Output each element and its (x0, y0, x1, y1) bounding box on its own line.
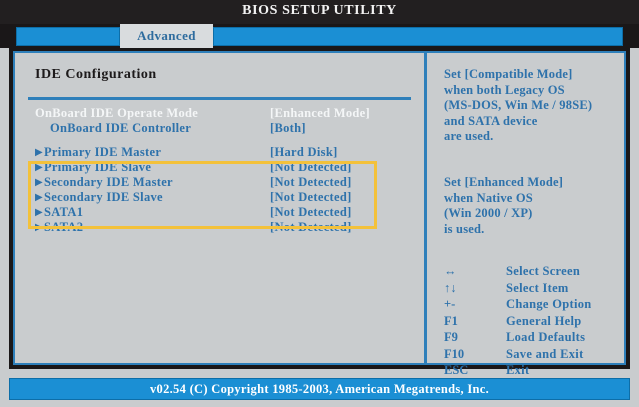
device-value: [Not Detected] (270, 160, 352, 175)
settings-panel: IDE Configuration OnBoard IDE Operate Mo… (15, 53, 424, 363)
legend-desc: Change Option (506, 296, 592, 313)
arrows-up-down-icon: ↑↓ (444, 280, 488, 297)
footer-bar: v02.54 (C) Copyright 1985-2003, American… (9, 378, 630, 400)
device-label: SATA1 (44, 205, 83, 220)
f9-key-icon: F9 (444, 329, 488, 346)
device-row-primary-ide-slave[interactable]: ▶ Primary IDE Slave [Not Detected] (15, 160, 424, 175)
plus-minus-key-icon: +- (444, 296, 488, 313)
bios-setup-screen: BIOS SETUP UTILITY Advanced IDE Configur… (0, 0, 639, 407)
device-row-sata1[interactable]: ▶ SATA1 [Not Detected] (15, 205, 424, 220)
device-row-secondary-ide-master[interactable]: ▶ Secondary IDE Master [Not Detected] (15, 175, 424, 190)
section-title: IDE Configuration (35, 67, 157, 83)
submenu-arrow-icon: ▶ (35, 145, 43, 160)
tab-advanced-label: Advanced (137, 28, 196, 44)
device-label: Primary IDE Master (44, 145, 161, 160)
device-row-sata2[interactable]: ▶ SATA2 [Not Detected] (15, 220, 424, 235)
f10-key-icon: F10 (444, 346, 488, 363)
setting-label: OnBoard IDE Operate Mode (35, 106, 198, 121)
submenu-arrow-icon: ▶ (35, 190, 43, 205)
device-label: SATA2 (44, 220, 83, 235)
section-divider (28, 97, 411, 100)
help-panel: Set [Compatible Mode] when both Legacy O… (427, 53, 624, 363)
tab-bar: Advanced (0, 24, 639, 48)
submenu-arrow-icon: ▶ (35, 205, 43, 220)
device-value: [Not Detected] (270, 205, 352, 220)
title-bar: BIOS SETUP UTILITY (0, 0, 639, 24)
legend-row-select-screen: ↔ Select Screen (444, 263, 639, 280)
setting-value: [Both] (270, 121, 306, 136)
setting-row-onboard-ide-controller[interactable]: OnBoard IDE Controller [Both] (15, 121, 424, 136)
device-value: [Hard Disk] (270, 145, 338, 160)
submenu-arrow-icon: ▶ (35, 160, 43, 175)
device-value: [Not Detected] (270, 190, 352, 205)
legend-row-change-option: +- Change Option (444, 296, 639, 313)
legend-desc: General Help (506, 313, 581, 330)
legend-row-general-help: F1 General Help (444, 313, 639, 330)
footer-copyright: v02.54 (C) Copyright 1985-2003, American… (150, 382, 489, 397)
submenu-arrow-icon: ▶ (35, 220, 43, 235)
row-spacer (15, 136, 424, 145)
legend-row-exit: ESC Exit (444, 362, 639, 379)
device-row-secondary-ide-slave[interactable]: ▶ Secondary IDE Slave [Not Detected] (15, 190, 424, 205)
settings-list: OnBoard IDE Operate Mode [Enhanced Mode]… (15, 106, 424, 235)
f1-key-icon: F1 (444, 313, 488, 330)
legend-desc: Select Item (506, 280, 569, 297)
setting-label: OnBoard IDE Controller (50, 121, 191, 136)
legend-row-save-and-exit: F10 Save and Exit (444, 346, 639, 363)
page-title: BIOS SETUP UTILITY (0, 3, 639, 19)
device-label: Secondary IDE Slave (44, 190, 163, 205)
legend-desc: Exit (506, 362, 529, 379)
device-label: Secondary IDE Master (44, 175, 173, 190)
legend-desc: Select Screen (506, 263, 580, 280)
device-row-primary-ide-master[interactable]: ▶ Primary IDE Master [Hard Disk] (15, 145, 424, 160)
setting-row-onboard-ide-operate-mode[interactable]: OnBoard IDE Operate Mode [Enhanced Mode] (15, 106, 424, 121)
legend-row-select-item: ↑↓ Select Item (444, 280, 639, 297)
content-frame: IDE Configuration OnBoard IDE Operate Mo… (13, 51, 626, 365)
help-text-enhanced-mode: Set [Enhanced Mode] when Native OS (Win … (444, 175, 634, 237)
legend-row-load-defaults: F9 Load Defaults (444, 329, 639, 346)
esc-key-icon: ESC (444, 362, 488, 379)
legend-desc: Load Defaults (506, 329, 585, 346)
arrows-left-right-icon: ↔ (444, 263, 488, 280)
submenu-arrow-icon: ▶ (35, 175, 43, 190)
device-value: [Not Detected] (270, 175, 352, 190)
tab-strip-right (213, 27, 623, 46)
tab-strip-left (16, 27, 120, 46)
device-value: [Not Detected] (270, 220, 352, 235)
device-label: Primary IDE Slave (44, 160, 151, 175)
key-legend: ↔ Select Screen ↑↓ Select Item +- Change… (444, 263, 639, 379)
help-text-compatible-mode: Set [Compatible Mode] when both Legacy O… (444, 67, 634, 145)
tab-advanced[interactable]: Advanced (120, 24, 213, 48)
setting-value: [Enhanced Mode] (270, 106, 370, 121)
legend-desc: Save and Exit (506, 346, 584, 363)
